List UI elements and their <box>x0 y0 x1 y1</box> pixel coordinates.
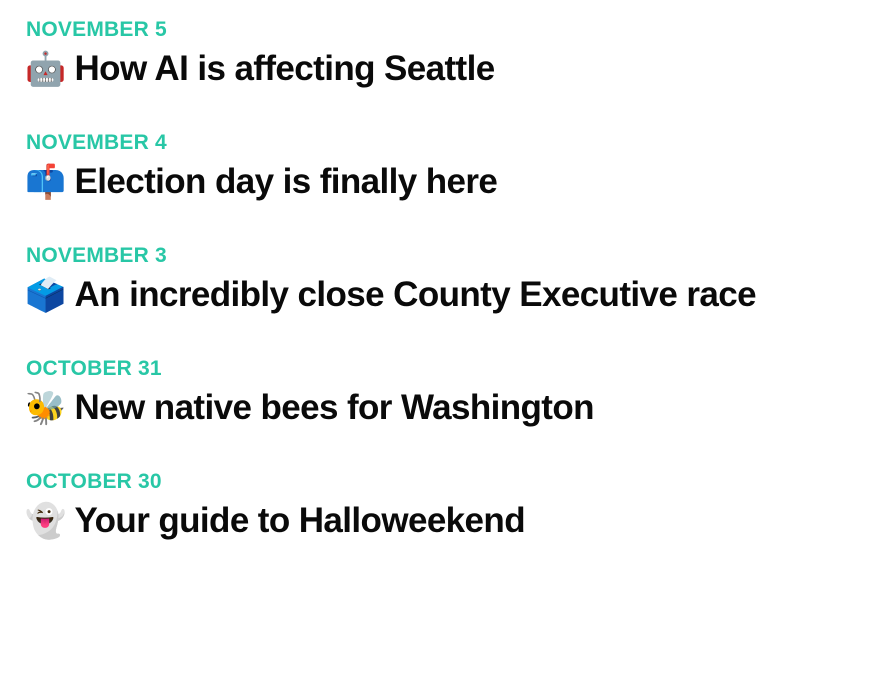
ghost-icon: 👻 <box>25 500 66 542</box>
entry-date: OCTOBER 30 <box>26 470 882 494</box>
entry-date: NOVEMBER 3 <box>26 244 882 268</box>
list-item[interactable]: OCTOBER 30 👻 Your guide to Halloweekend <box>25 470 882 542</box>
entry-title-text[interactable]: How AI is affecting Seattle <box>75 48 495 90</box>
entry-date: NOVEMBER 5 <box>26 18 882 42</box>
entry-title-row[interactable]: 📫 Election day is finally here <box>25 161 882 203</box>
entry-title-text[interactable]: Election day is finally here <box>75 161 498 203</box>
entry-title-text[interactable]: New native bees for Washington <box>75 387 594 429</box>
archive-list: NOVEMBER 5 🤖 How AI is affecting Seattle… <box>0 0 882 542</box>
entry-title-row[interactable]: 👻 Your guide to Halloweekend <box>25 500 882 542</box>
entry-date: NOVEMBER 4 <box>26 131 882 155</box>
entry-title-row[interactable]: 🗳️ An incredibly close County Executive … <box>25 274 882 316</box>
list-item[interactable]: NOVEMBER 4 📫 Election day is finally her… <box>25 131 882 203</box>
entry-title-row[interactable]: 🐝 New native bees for Washington <box>25 387 882 429</box>
entry-date: OCTOBER 31 <box>26 357 882 381</box>
list-item[interactable]: OCTOBER 31 🐝 New native bees for Washing… <box>25 357 882 429</box>
ballot-box-icon: 🗳️ <box>25 274 66 316</box>
list-item[interactable]: NOVEMBER 3 🗳️ An incredibly close County… <box>25 244 882 316</box>
entry-title-text[interactable]: An incredibly close County Executive rac… <box>75 274 756 316</box>
entry-title-text[interactable]: Your guide to Halloweekend <box>75 500 525 542</box>
mailbox-icon: 📫 <box>25 161 66 203</box>
entry-title-row[interactable]: 🤖 How AI is affecting Seattle <box>25 48 882 90</box>
list-item[interactable]: NOVEMBER 5 🤖 How AI is affecting Seattle <box>25 18 882 90</box>
bee-icon: 🐝 <box>25 387 66 429</box>
robot-icon: 🤖 <box>25 48 66 90</box>
